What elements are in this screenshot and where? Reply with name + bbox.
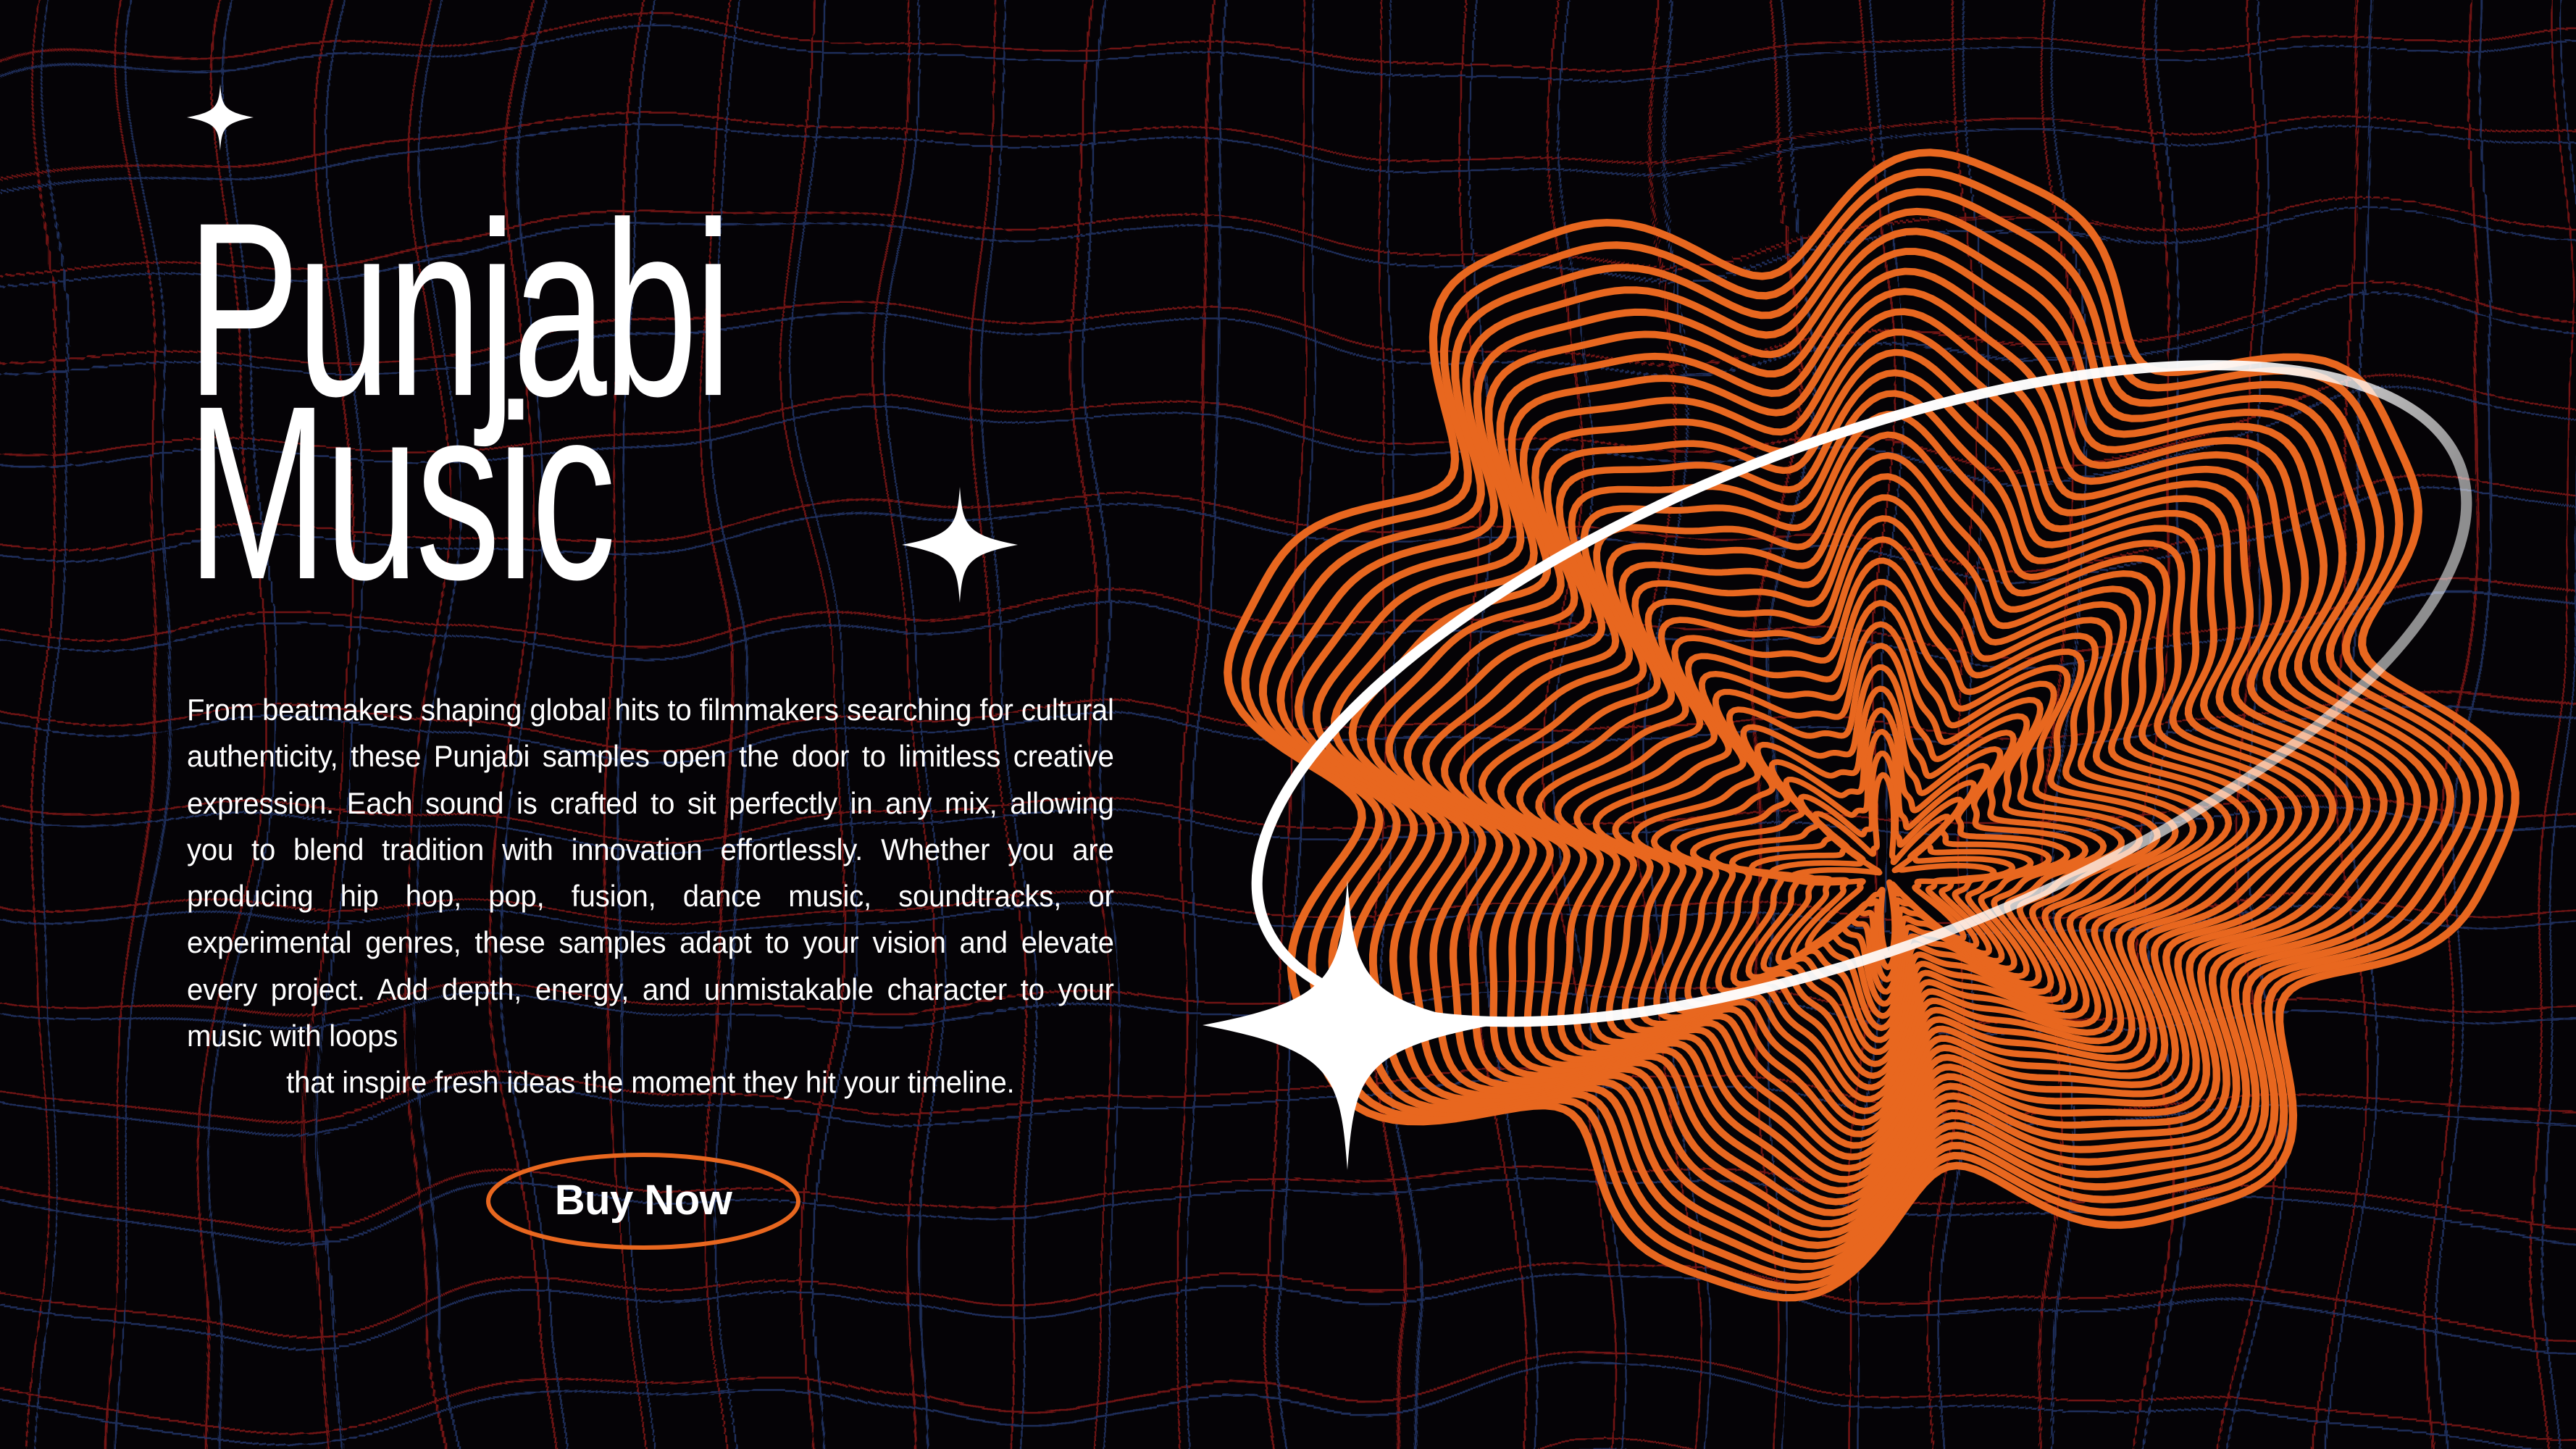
sparkle-top-left-icon <box>187 84 254 151</box>
hero-description-body: From beatmakers shaping global hits to f… <box>187 693 1114 1053</box>
title-line-2: Music <box>187 401 955 584</box>
page-title: Punjabi Music <box>187 217 955 584</box>
buy-now-label: Buy Now <box>484 1149 803 1250</box>
hero-banner: Punjabi Music From beatmakers shaping gl… <box>0 0 2576 1449</box>
concentric-wavy-blob-graphic <box>1174 94 2550 1369</box>
sparkle-title-icon <box>902 487 1018 603</box>
sparkle-large-icon <box>1203 880 1492 1170</box>
hero-text-column: Punjabi Music <box>187 217 1172 539</box>
buy-now-button[interactable]: Buy Now <box>484 1151 803 1252</box>
hero-description: From beatmakers shaping global hits to f… <box>187 687 1114 1106</box>
hero-description-lastline: that inspire fresh ideas the moment they… <box>187 1059 1114 1106</box>
